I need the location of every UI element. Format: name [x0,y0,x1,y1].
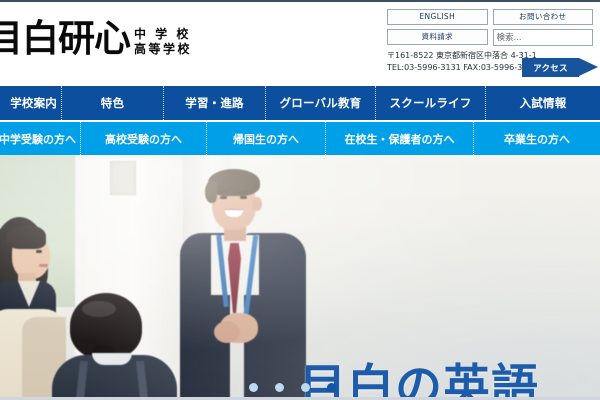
arrow-right-icon [579,58,598,76]
search-box[interactable] [493,29,594,46]
school-website-page: 目白研心 中 学 校 高等学校 ENGLISH お問い合わせ 資料請求 [0,0,600,400]
nav-item-alumni[interactable]: 卒業生の方へ [474,122,600,155]
hero-carousel[interactable]: 目白の英語 Excelling in English [0,155,600,400]
nav-item-high-school-applicants[interactable]: 高校受験の方へ [81,122,207,155]
contact-button[interactable]: お問い合わせ [493,9,594,25]
carousel-dot-4[interactable] [327,383,336,392]
logo-main-text: 目白研心 [0,20,130,58]
logo-sub-text: 中 学 校 高等学校 [134,27,192,57]
english-button[interactable]: ENGLISH [387,9,488,25]
hero-title: 目白の英語 [299,362,600,400]
nav-item-school-guide[interactable]: 学校案内 [0,86,62,120]
site-logo[interactable]: 目白研心 中 学 校 高等学校 [0,20,192,58]
carousel-dot-1[interactable] [249,383,258,392]
nav-item-students-guardians[interactable]: 在校生・保護者の方へ [326,122,474,155]
carousel-dot-2[interactable] [275,383,284,392]
utility-bar: ENGLISH お問い合わせ 資料請求 [387,9,593,50]
site-header: 目白研心 中 学 校 高等学校 ENGLISH お問い合わせ 資料請求 [0,2,600,86]
nav-item-school-life[interactable]: スクールライフ [376,86,486,120]
access-button[interactable]: アクセス [522,58,598,77]
secondary-navigation: 中学受験の方へ 高校受験の方へ 帰国生の方へ 在校生・保護者の方へ 卒業生の方へ [0,120,600,155]
carousel-dot-3[interactable] [301,383,310,392]
primary-navigation: 学校案内 特色 学習・進路 グローバル教育 スクールライフ 入試情報 [0,86,600,120]
utility-row-top: ENGLISH お問い合わせ [387,9,593,25]
hero-text-block: 目白の英語 Excelling in English [299,362,600,400]
logo-sub-line-1: 中 学 校 [134,27,192,42]
utility-row-bottom: 資料請求 [387,29,593,46]
carousel-pagination [249,383,336,392]
nav-item-admissions[interactable]: 入試情報 [486,86,600,120]
access-button-body: アクセス [522,58,579,77]
brochure-request-button[interactable]: 資料請求 [387,29,488,45]
nav-item-junior-high-applicants[interactable]: 中学受験の方へ [0,122,81,155]
nav-item-returnee-students[interactable]: 帰国生の方へ [207,122,326,155]
search-input[interactable] [494,30,594,45]
nav-item-study-career[interactable]: 学習・進路 [164,86,266,120]
nav-item-features[interactable]: 特色 [62,86,164,120]
nav-item-global-education[interactable]: グローバル教育 [266,86,376,120]
access-button-label: アクセス [533,62,568,74]
logo-sub-line-2: 高等学校 [134,42,192,57]
